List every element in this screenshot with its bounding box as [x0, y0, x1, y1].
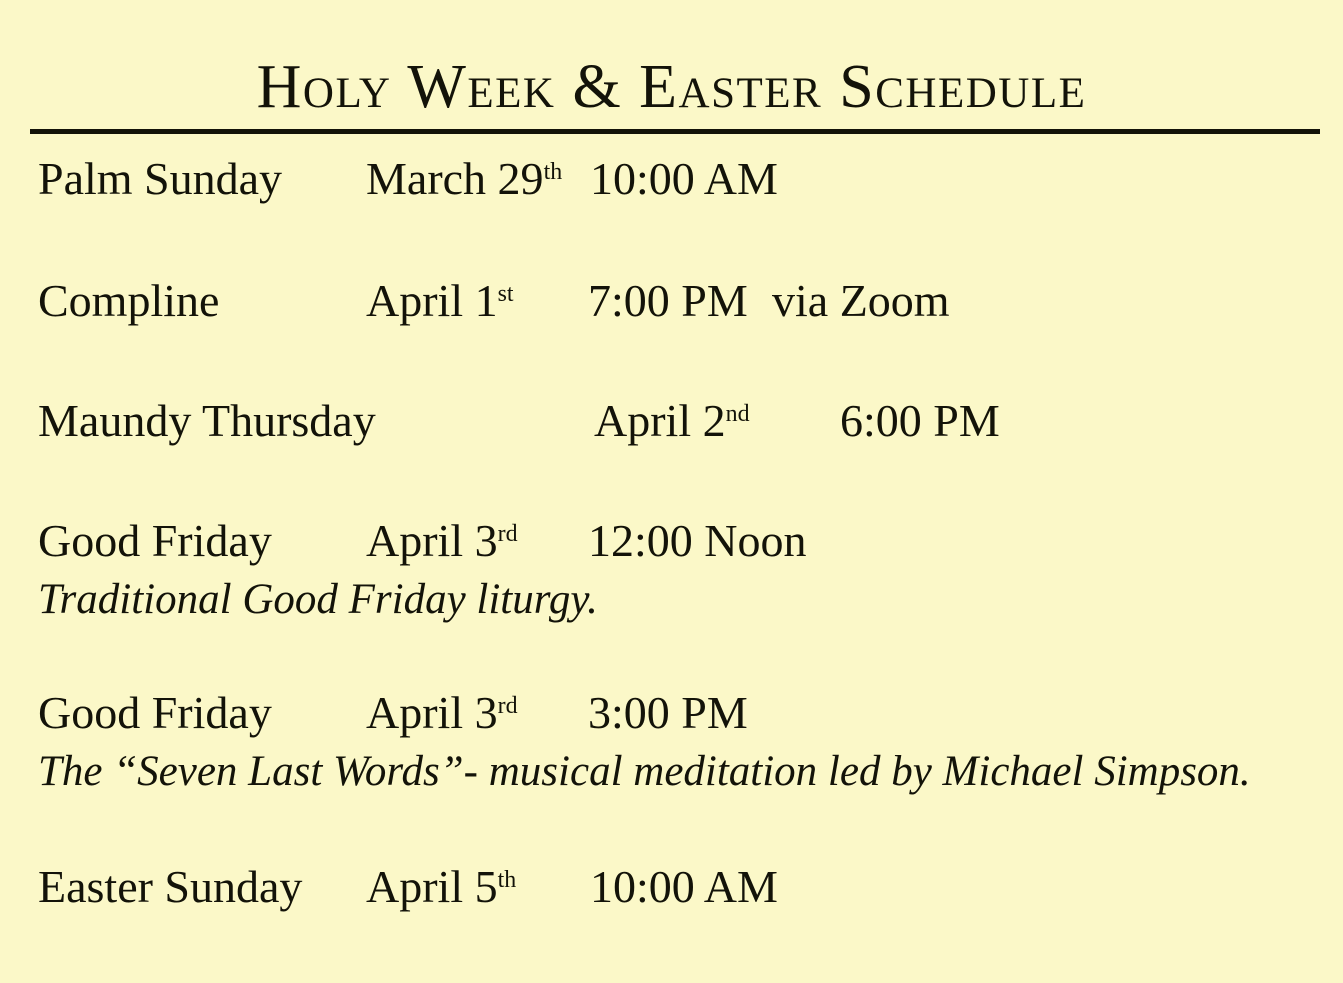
event-name: Maundy Thursday [38, 392, 376, 450]
schedule-entry-row: Good FridayApril 3rd12:00 Noon [0, 512, 1343, 574]
schedule-entry: Palm SundayMarch 29th10:00 AM [0, 150, 1343, 212]
event-name: Palm Sunday [38, 150, 282, 208]
event-name: Compline [38, 272, 219, 330]
event-date: April 5th [366, 858, 516, 916]
event-name: Good Friday [38, 512, 272, 570]
schedule-page: Holy Week & Easter Schedule Palm SundayM… [0, 0, 1343, 983]
schedule-entry-row: Good FridayApril 3rd3:00 PM [0, 684, 1343, 746]
event-time: 10:00 AM [590, 858, 778, 916]
schedule-entry-row: Maundy ThursdayApril 2nd6:00 PM [0, 392, 1343, 454]
event-date: April 1st [366, 272, 514, 330]
schedule-entry-row: Palm SundayMarch 29th10:00 AM [0, 150, 1343, 212]
event-date: April 3rd [366, 512, 518, 570]
event-date-text: April 2 [594, 395, 726, 446]
event-date-text: April 3 [366, 515, 498, 566]
event-location: via Zoom [772, 272, 950, 330]
schedule-entry-row: ComplineApril 1st7:00 PMvia Zoom [0, 272, 1343, 334]
event-date: March 29th [366, 150, 562, 208]
event-time: 10:00 AM [590, 150, 778, 208]
event-time: 3:00 PM [588, 684, 748, 742]
event-date: April 3rd [366, 684, 518, 742]
schedule-entry: Maundy ThursdayApril 2nd6:00 PM [0, 392, 1343, 454]
event-note: The “Seven Last Words”- musical meditati… [38, 744, 1343, 800]
title-block: Holy Week & Easter Schedule [0, 52, 1343, 122]
event-time: 12:00 Noon [588, 512, 807, 570]
event-date-text: April 1 [366, 275, 498, 326]
event-note: Traditional Good Friday liturgy. [38, 572, 1343, 628]
event-time: 6:00 PM [840, 392, 1000, 450]
event-date-ordinal: th [544, 159, 563, 185]
page-title: Holy Week & Easter Schedule [0, 52, 1343, 122]
schedule-entry: ComplineApril 1st7:00 PMvia Zoom [0, 272, 1343, 334]
event-time: 7:00 PM [588, 272, 748, 330]
event-name: Easter Sunday [38, 858, 302, 916]
event-date-ordinal: nd [726, 401, 750, 427]
event-date-ordinal: rd [498, 521, 518, 547]
event-name: Good Friday [38, 684, 272, 742]
event-date-ordinal: st [498, 281, 514, 307]
schedule-entry: Good FridayApril 3rd12:00 NoonTraditiona… [0, 512, 1343, 628]
event-date-text: April 5 [366, 861, 498, 912]
event-date-text: March 29 [366, 153, 544, 204]
schedule-entry-row: Easter SundayApril 5th10:00 AM [0, 858, 1343, 920]
title-divider [30, 129, 1320, 134]
event-date-text: April 3 [366, 687, 498, 738]
event-date-ordinal: rd [498, 693, 518, 719]
event-date: April 2nd [594, 392, 750, 450]
schedule-entry: Easter SundayApril 5th10:00 AM [0, 858, 1343, 920]
schedule-entry: Good FridayApril 3rd3:00 PMThe “Seven La… [0, 684, 1343, 800]
schedule-list: Palm SundayMarch 29th10:00 AMComplineApr… [0, 150, 1343, 920]
event-date-ordinal: th [498, 867, 517, 893]
